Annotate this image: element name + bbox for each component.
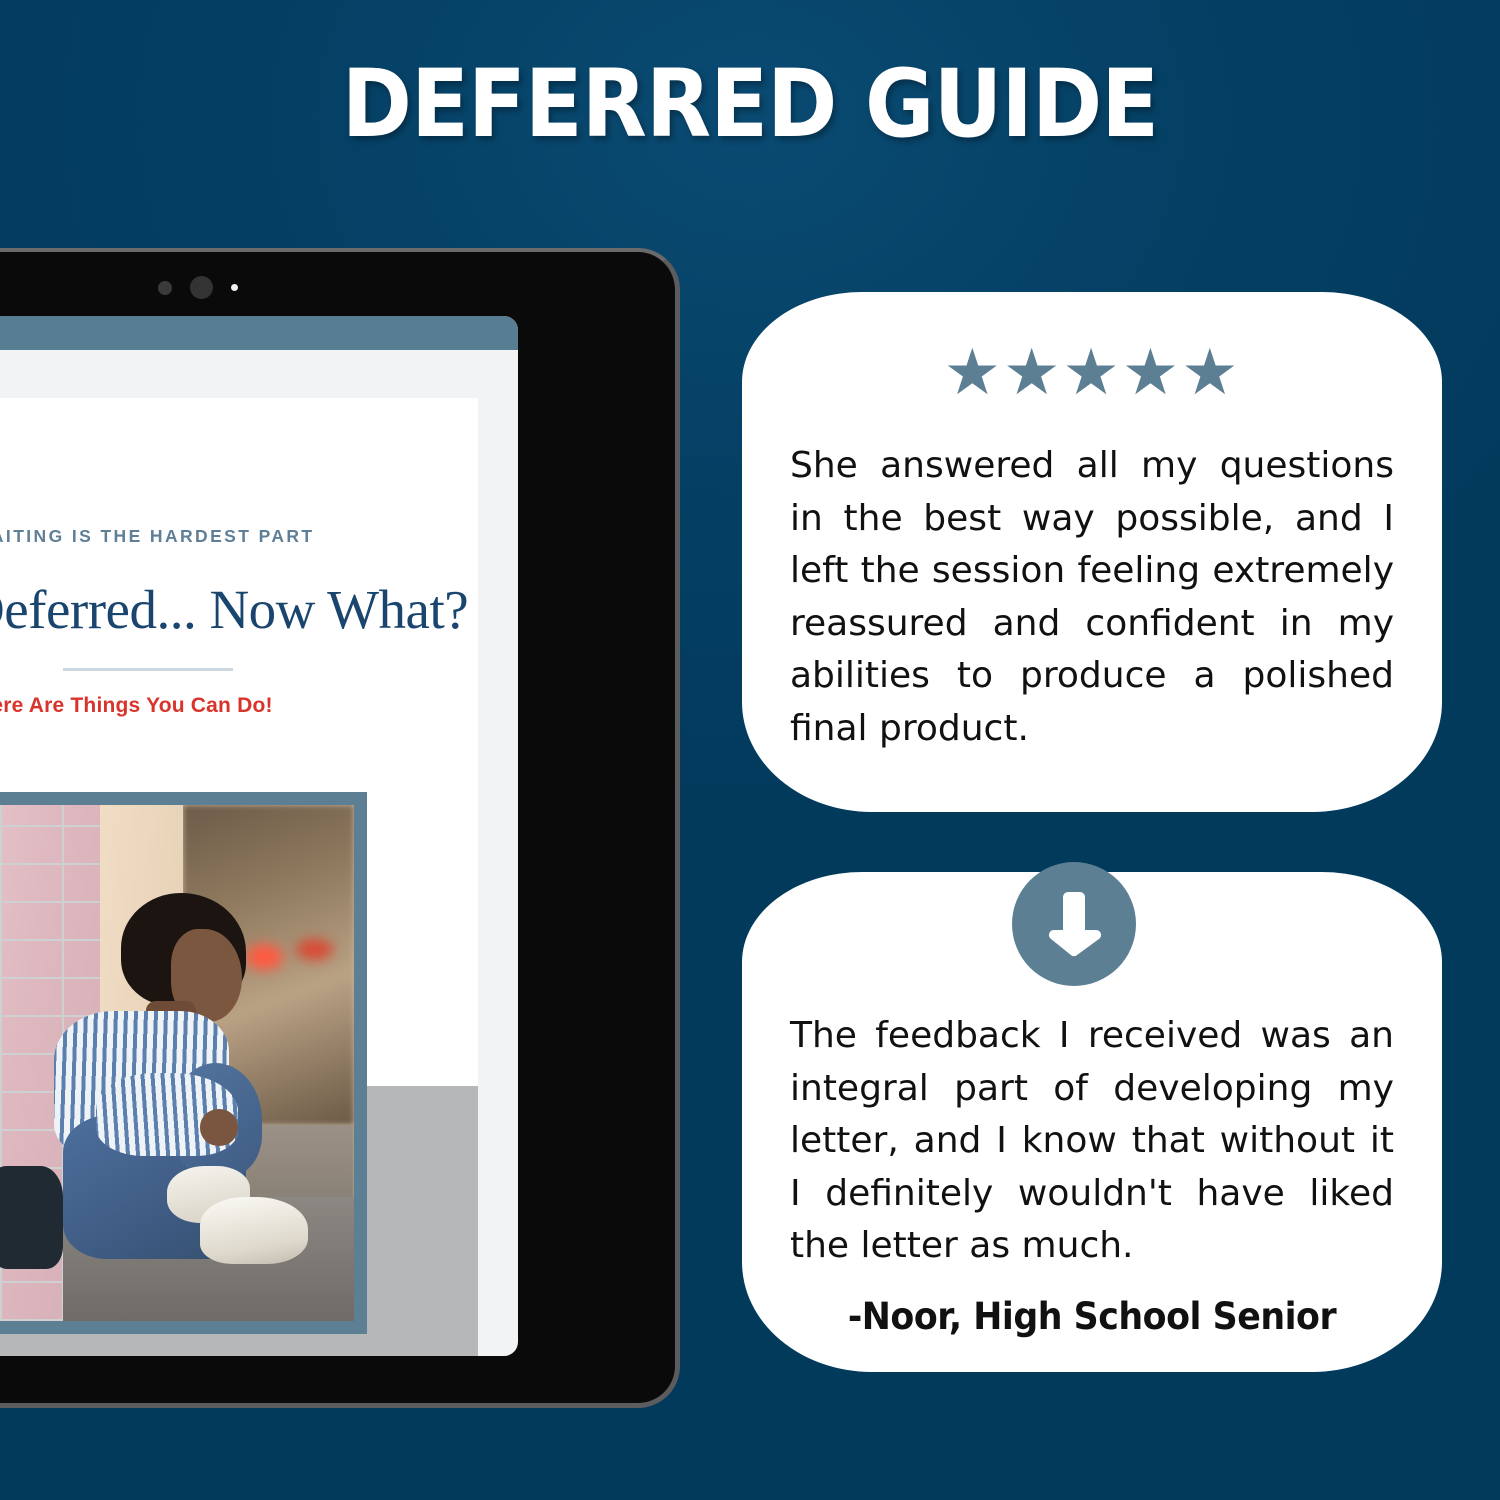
- photo-person-shoe-front: [200, 1197, 308, 1264]
- camera-sensor-group: [158, 276, 238, 299]
- testimonial-card-1: ★★★★★ She answered all my questions in t…: [742, 292, 1442, 812]
- cover-photo: [0, 805, 354, 1321]
- testimonial-attribution: -Noor, High School Senior: [763, 1295, 1421, 1338]
- poster-canvas: DEFERRED GUIDE THE WAITING IS THE HARDES…: [0, 0, 1500, 1500]
- photo-backpack: [0, 1166, 63, 1269]
- camera-icon: [190, 276, 213, 299]
- tablet-screen: THE WAITING IS THE HARDEST PART You Got …: [0, 316, 518, 1356]
- testimonial-quote-1: She answered all my questions in the bes…: [790, 440, 1394, 755]
- document-eyebrow: THE WAITING IS THE HARDEST PART: [0, 526, 478, 547]
- document-cover-title: You Got Deferred... Now What?: [0, 578, 478, 641]
- page-title: DEFERRED GUIDE: [75, 58, 1425, 152]
- indicator-light-icon: [231, 284, 238, 291]
- photo-person-hand: [200, 1109, 237, 1145]
- document-subtitle: There Are Things You Can Do!: [0, 694, 478, 718]
- tablet-device-mockup: THE WAITING IS THE HARDEST PART You Got …: [0, 248, 680, 1408]
- star-rating-icons: ★★★★★: [742, 340, 1442, 404]
- app-topbar: [0, 316, 518, 350]
- title-divider: [63, 668, 233, 671]
- arrow-down-icon: [1012, 862, 1136, 986]
- sensor-dot-icon: [158, 281, 172, 295]
- cover-photo-frame: [0, 792, 367, 1334]
- testimonial-quote-2: The feedback I received was an integral …: [790, 1010, 1394, 1273]
- photo-light-glow-secondary: [296, 939, 333, 960]
- document-page: THE WAITING IS THE HARDEST PART You Got …: [0, 398, 478, 1298]
